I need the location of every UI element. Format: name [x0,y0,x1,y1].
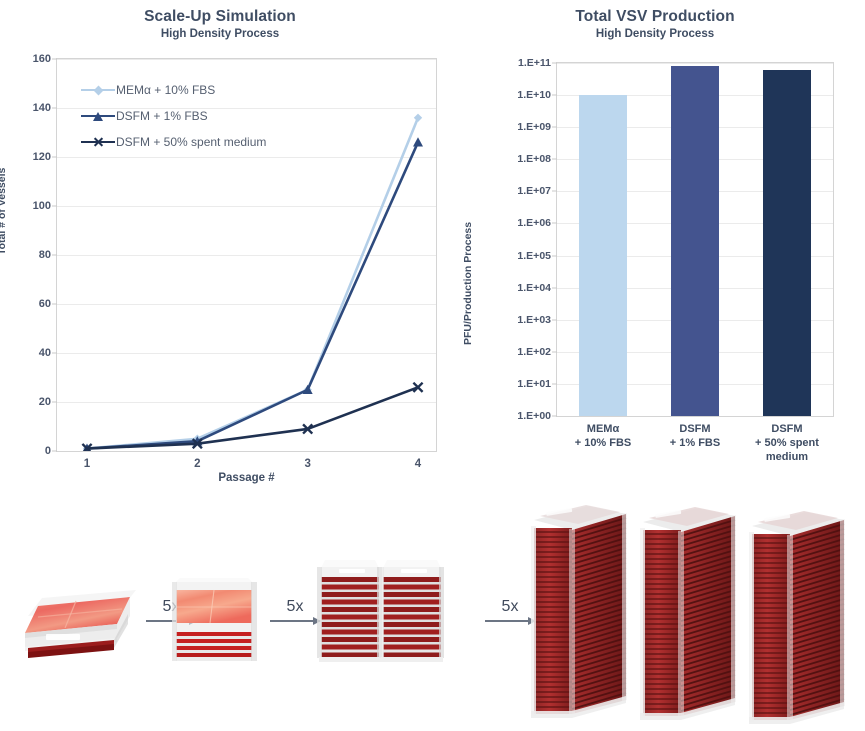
scale-up-simulation-chart: Scale-Up Simulation High Density Process… [0,0,460,490]
bar-chart-y-tick-mark [552,416,557,417]
bar-chart-subtitle: High Density Process [470,28,840,40]
line-chart-subtitle: High Density Process [0,28,440,40]
bar-chart-y-tick-mark [552,159,557,160]
line-chart-data-point [413,137,423,146]
bar-chart-y-axis-label: PFU/Production Process [462,222,474,345]
line-chart-y-tick: 100 [33,200,51,212]
bar-chart-y-tick-mark [552,63,557,64]
scale-up-process-diagram: 5x [0,488,865,731]
line-chart-y-tick: 140 [33,102,51,114]
bar-chart-y-tick-mark [552,191,557,192]
bar-chart-y-tick-mark [552,95,557,96]
line-chart-y-tick: 0 [45,445,51,457]
line-chart-x-tick: 1 [84,458,90,470]
bar-chart-title-block: Total VSV Production High Density Proces… [470,8,840,40]
line-chart-y-tick: 80 [39,249,51,261]
vessel-stage-4-three-forty-layer-stacks [528,492,858,730]
line-chart-plot-area: 020406080100120140160 1234 MEMα + 10% FB… [56,58,437,452]
bar-chart-y-tick: 1.E+07 [517,185,551,197]
vessel-stage-3-two-ten-layer-stacks [313,556,447,672]
line-chart-x-tick: 4 [415,458,421,470]
bar-chart-y-tick: 1.E+11 [518,57,551,69]
vessel-stage-2-five-layer-stack [168,576,264,672]
line-chart-x-axis-label: Passage # [56,472,437,484]
bar-chart-y-tick: 1.E+01 [517,378,551,390]
bar-chart-bar[interactable] [579,95,627,416]
bar-chart-y-tick: 1.E+08 [517,153,551,165]
bar-chart-y-tick: 1.E+10 [517,89,551,101]
bar-chart-gridline [557,63,833,64]
bar-chart-bar[interactable] [763,70,811,416]
line-chart-y-tick: 40 [39,347,51,359]
bar-chart-category-label-line: + 50% spent [733,437,841,451]
total-vsv-production-chart: Total VSV Production High Density Proces… [440,0,865,490]
bar-chart-y-tick-mark [552,287,557,288]
bar-chart-y-tick: 1.E+05 [517,250,551,262]
line-chart-x-tick: 3 [304,458,310,470]
line-chart-title-block: Scale-Up Simulation High Density Process [0,8,440,40]
bar-chart-y-tick: 1.E+04 [517,282,551,294]
line-chart-series-line [87,387,418,448]
bar-chart-plot-area: 1.E+001.E+011.E+021.E+031.E+041.E+051.E+… [556,62,834,417]
line-chart-series-line [87,118,418,449]
bar-chart-category-label: DSFM+ 50% spentmedium [733,423,841,464]
tall-stack-2 [640,507,736,720]
bar-chart-y-tick: 1.E+02 [517,346,551,358]
bar-chart-y-tick-mark [552,383,557,384]
line-chart-y-tick: 120 [33,151,51,163]
line-chart-series-line [87,142,418,448]
vessel-stage-1-single-layer [18,586,148,672]
line-chart-y-axis-label: Total # of Vessels [0,168,8,255]
line-chart-y-tick: 20 [39,396,51,408]
bar-chart-category-label-line: DSFM [733,423,841,437]
bar-chart-y-tick-mark [552,351,557,352]
bar-chart-y-tick-mark [552,255,557,256]
line-chart-y-tick: 160 [33,53,51,65]
bar-chart-y-tick-mark [552,223,557,224]
bar-chart-y-tick: 1.E+00 [517,410,551,422]
bar-chart-category-label-line: medium [733,451,841,465]
bar-chart-bar[interactable] [671,66,719,416]
line-chart-y-tick: 60 [39,298,51,310]
line-chart-series-layer [57,59,436,451]
bar-chart-y-tick-mark [552,319,557,320]
bar-chart-title: Total VSV Production [470,8,840,26]
bar-chart-y-tick: 1.E+06 [517,217,551,229]
bar-chart-y-tick: 1.E+03 [517,314,551,326]
line-chart-title: Scale-Up Simulation [0,8,440,26]
tall-stack-1 [531,505,627,718]
bar-chart-y-tick: 1.E+09 [517,121,551,133]
line-chart-x-tick: 2 [194,458,200,470]
tall-stack-3 [749,511,845,724]
bar-chart-y-tick-mark [552,127,557,128]
line-chart-data-point [414,114,422,122]
